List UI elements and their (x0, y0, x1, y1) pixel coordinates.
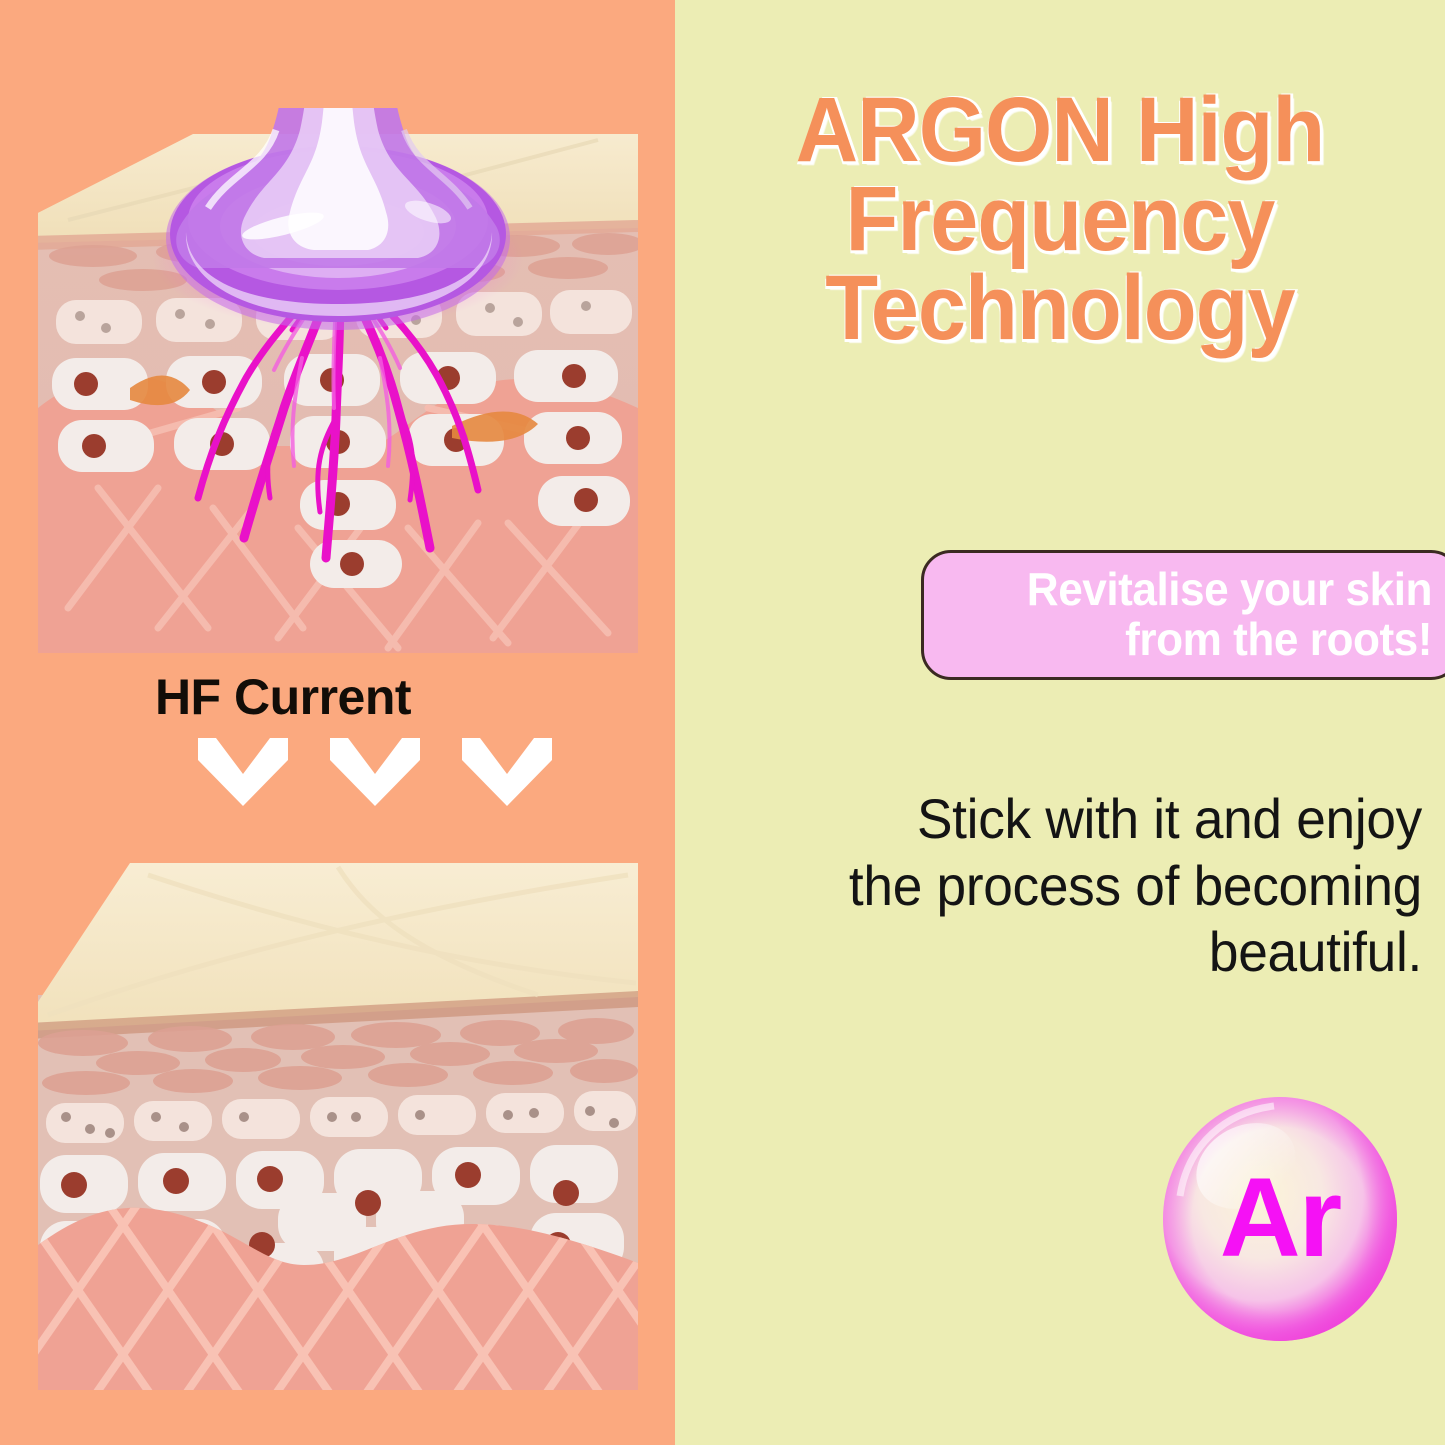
badge-line-2: from the roots! (944, 615, 1432, 665)
tagline-badge: Revitalise your skin from the roots! (921, 550, 1445, 680)
badge-line-1: Revitalise your skin (944, 565, 1432, 615)
chevron-down-icon (330, 738, 420, 806)
headline-line-3: Technology (712, 264, 1408, 353)
hf-current-label: HF Current (38, 672, 528, 722)
body-line-1: Stick with it and enjoy (736, 786, 1422, 853)
body-line-3: beautiful. (736, 919, 1422, 986)
chevron-arrow-group (198, 738, 552, 806)
body-copy: Stick with it and enjoy the process of b… (736, 786, 1422, 986)
page-title: ARGON High Frequency Technology (712, 86, 1408, 354)
chevron-down-icon (462, 738, 552, 806)
chevron-down-icon (198, 738, 288, 806)
headline-line-2: Frequency (712, 175, 1408, 264)
body-line-2: the process of becoming (736, 853, 1422, 920)
element-symbol: Ar (1162, 1096, 1398, 1342)
argon-element-bubble: Ar (1162, 1096, 1398, 1342)
skin-diagram-with-electrode (38, 108, 638, 653)
poster-canvas: HF Current (0, 0, 1445, 1445)
headline-line-1: ARGON High (712, 86, 1408, 175)
hf-current-indicator: HF Current (38, 672, 638, 832)
skin-diagram-healthy (38, 845, 638, 1390)
